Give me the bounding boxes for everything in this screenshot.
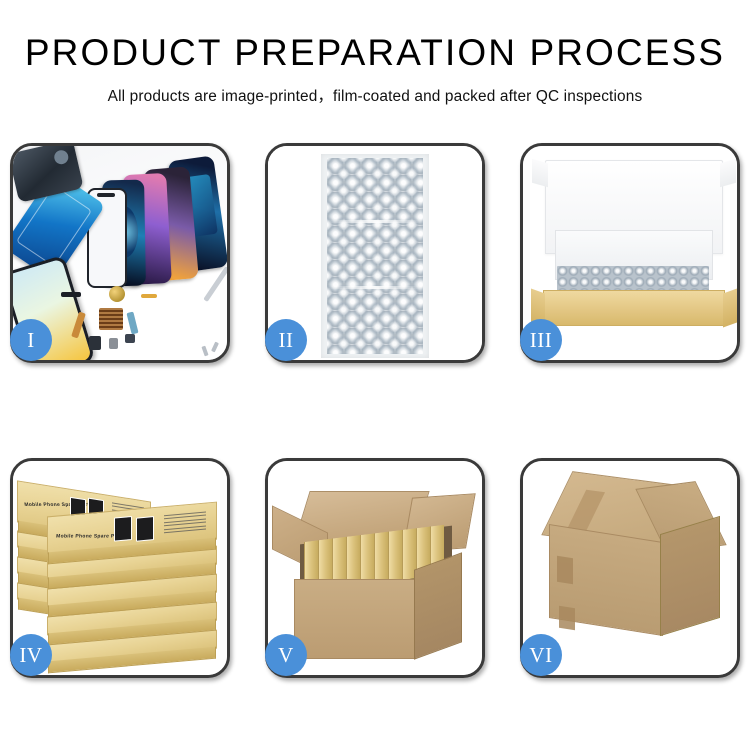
box-spec-lines: [164, 512, 206, 536]
bubble-texture-overlay: [327, 158, 423, 354]
screw-icon: [201, 346, 208, 357]
step-badge-2: II: [265, 319, 307, 361]
bubble-wrapped-contents: [557, 266, 709, 292]
antenna-part-icon: [61, 292, 81, 297]
packing-tape-icon: [559, 606, 575, 631]
pouch-seam: [327, 220, 423, 223]
packing-tape-icon: [557, 556, 573, 585]
page-title: PRODUCT PREPARATION PROCESS: [0, 34, 750, 73]
step-badge-4: IV: [10, 634, 52, 676]
page-header: PRODUCT PREPARATION PROCESS All products…: [0, 0, 750, 106]
bubble-wrap-pouch-icon: [321, 154, 429, 358]
small-part-icon: [109, 338, 118, 349]
step-badge-1: I: [10, 319, 52, 361]
process-step-panel-2[interactable]: II: [265, 143, 485, 363]
pouch-seam: [327, 286, 423, 289]
tweezers-icon: [203, 266, 227, 302]
speaker-coil-icon: [109, 286, 125, 302]
connector-part-icon: [141, 294, 157, 298]
carton-right-face: [414, 552, 462, 659]
small-part-icon: [125, 334, 135, 343]
kraft-box-stack: Mobile Phone Spare Parts Mobile Phone Sp…: [17, 475, 227, 667]
box-phone-image: [136, 516, 154, 542]
page-subtitle: All products are image-printed，film-coat…: [0, 84, 750, 106]
carton-front-face: [294, 579, 416, 659]
process-step-panel-3[interactable]: III: [520, 143, 740, 363]
process-step-grid: I II III: [10, 143, 740, 678]
process-step-panel-6[interactable]: VI: [520, 458, 740, 678]
process-step-panel-5[interactable]: V: [265, 458, 485, 678]
kraft-box-base-icon: [543, 290, 725, 326]
chip-array-icon: [99, 308, 123, 330]
box-phone-image: [114, 516, 132, 542]
process-step-panel-4[interactable]: Mobile Phone Spare Parts Mobile Phone Sp…: [10, 458, 230, 678]
small-part-icon: [89, 336, 101, 350]
step-badge-6: VI: [520, 634, 562, 676]
flex-cable-icon: [126, 311, 138, 334]
step-badge-5: V: [265, 634, 307, 676]
screw-icon: [211, 342, 219, 353]
carton-right-face: [660, 516, 720, 636]
process-step-panel-1[interactable]: I: [10, 143, 230, 363]
step-badge-3: III: [520, 319, 562, 361]
